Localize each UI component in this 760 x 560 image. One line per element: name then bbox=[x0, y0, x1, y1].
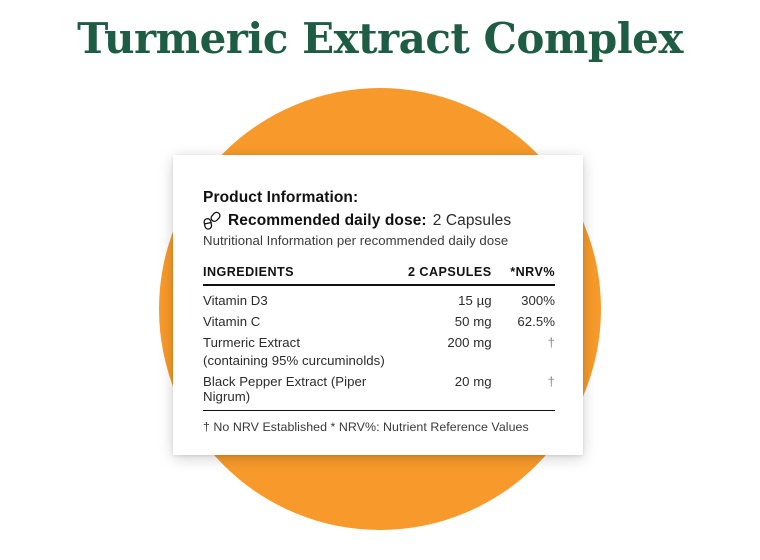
cell-ingredient: Vitamin C bbox=[203, 311, 404, 332]
nutrition-table: INGREDIENTS 2 CAPSULES *NRV% Vitamin D3 … bbox=[203, 265, 555, 411]
cell-ingredient: Vitamin D3 bbox=[203, 285, 404, 311]
cell-ingredient: Turmeric Extract bbox=[203, 332, 404, 353]
column-header-nrv: *NRV% bbox=[492, 265, 555, 285]
cell-amount: 20 mg bbox=[404, 371, 492, 411]
product-information-heading: Product Information: bbox=[203, 187, 555, 209]
table-header-row: INGREDIENTS 2 CAPSULES *NRV% bbox=[203, 265, 555, 285]
capsule-pills-icon bbox=[203, 211, 222, 230]
cell-nrv: 62.5% bbox=[492, 311, 555, 332]
cell-amount: 50 mg bbox=[404, 311, 492, 332]
table-row: Black Pepper Extract (Piper Nigrum) 20 m… bbox=[203, 371, 555, 411]
nutrition-label-card: Product Information: Recommended daily d… bbox=[173, 155, 583, 455]
recommended-daily-dose-label: Recommended daily dose: bbox=[228, 212, 427, 230]
cell-nrv: † bbox=[492, 371, 555, 411]
recommended-daily-dose-value: 2 Capsules bbox=[433, 212, 512, 230]
cell-ingredient: Black Pepper Extract (Piper Nigrum) bbox=[203, 371, 404, 411]
nrv-footnote: † No NRV Established * NRV%: Nutrient Re… bbox=[203, 420, 555, 434]
cell-nrv: † bbox=[492, 332, 555, 353]
nutritional-information-subnote: Nutritional Information per recommended … bbox=[203, 233, 555, 248]
cell-amount bbox=[404, 353, 492, 371]
cell-nrv bbox=[492, 353, 555, 371]
page-title: Turmeric Extract Complex bbox=[0, 14, 760, 63]
table-row: Turmeric Extract 200 mg † bbox=[203, 332, 555, 353]
cell-amount: 15 µg bbox=[404, 285, 492, 311]
table-row: Vitamin D3 15 µg 300% bbox=[203, 285, 555, 311]
label-graphic-stage: Turmeric Extract Complex Product Informa… bbox=[0, 0, 760, 560]
cell-nrv: 300% bbox=[492, 285, 555, 311]
table-row: Vitamin C 50 mg 62.5% bbox=[203, 311, 555, 332]
cell-ingredient-subnote: (containing 95% curcuminolds) bbox=[203, 353, 404, 371]
column-header-ingredients: INGREDIENTS bbox=[203, 265, 404, 285]
column-header-amount: 2 CAPSULES bbox=[404, 265, 492, 285]
recommended-daily-dose-row: Recommended daily dose: 2 Capsules bbox=[203, 211, 555, 230]
cell-amount: 200 mg bbox=[404, 332, 492, 353]
table-row-subnote: (containing 95% curcuminolds) bbox=[203, 353, 555, 371]
